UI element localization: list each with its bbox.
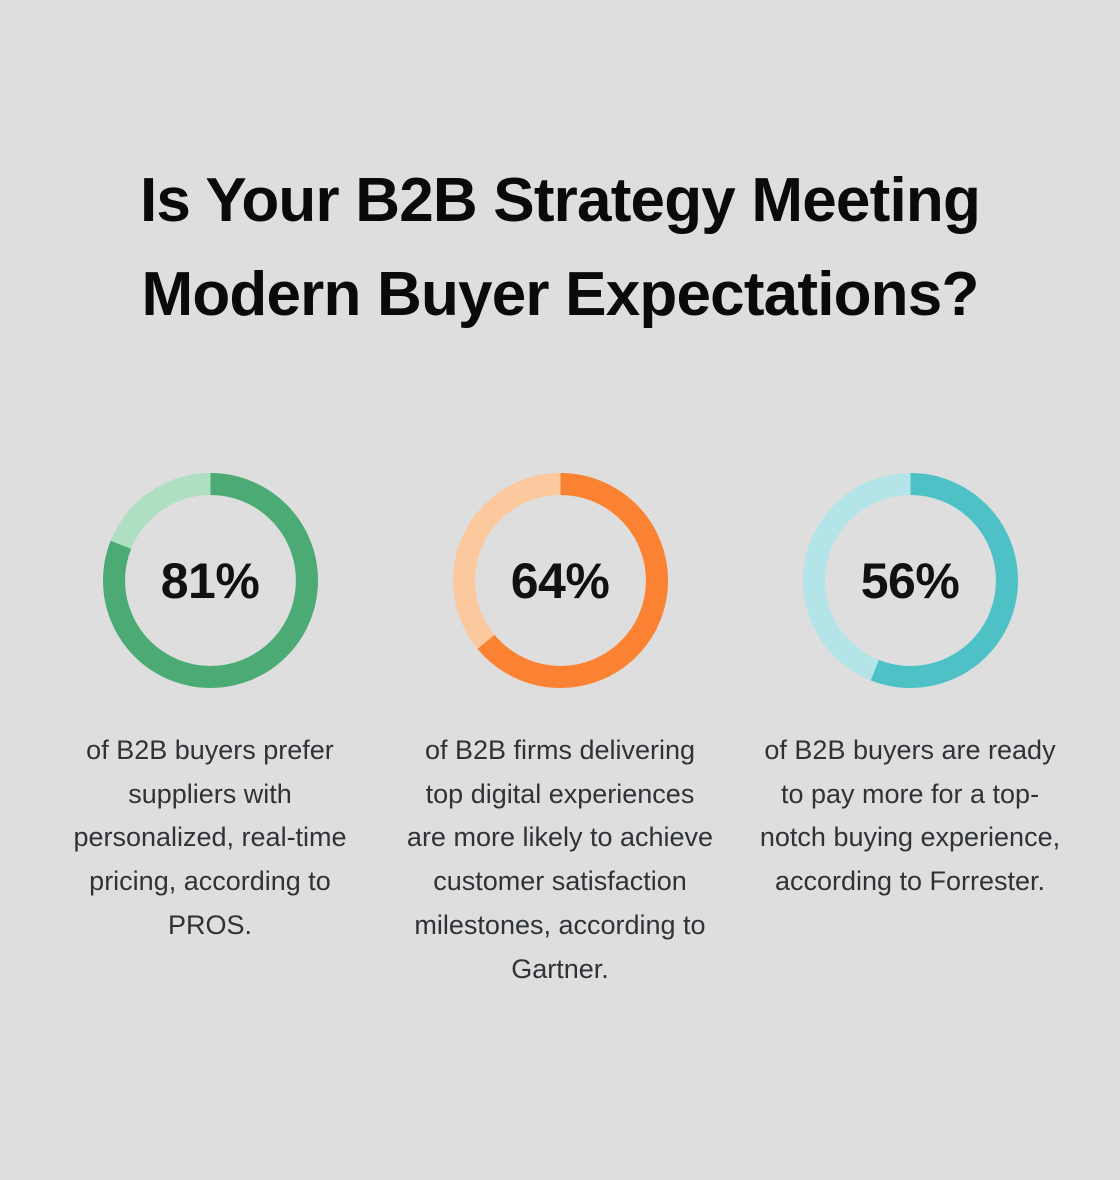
donut-value-label-3: 56% [792,462,1029,699]
stat-caption-3: of B2B buyers are ready to pay more for … [750,729,1070,904]
donut-value-label-2: 64% [442,462,679,699]
donut-chart-2: 64% [442,462,679,699]
stat-caption-2: of B2B firms delivering top digital expe… [405,729,715,991]
infographic-poster: Is Your B2B Strategy Meeting Modern Buye… [0,0,1120,1180]
donut-chart-1: 81% [92,462,329,699]
page-title: Is Your B2B Strategy Meeting Modern Buye… [130,154,990,342]
stat-caption-1: of B2B buyers prefer suppliers with pers… [60,729,360,948]
donut-value-label-1: 81% [92,462,329,699]
stat-card-2: 64% of B2B firms delivering top digital … [385,462,735,1018]
donut-chart-3: 56% [792,462,1029,699]
stats-row: 81% of B2B buyers prefer suppliers with … [0,462,1120,1018]
stat-card-1: 81% of B2B buyers prefer suppliers with … [35,462,385,975]
stat-card-3: 56% of B2B buyers are ready to pay more … [735,462,1085,931]
